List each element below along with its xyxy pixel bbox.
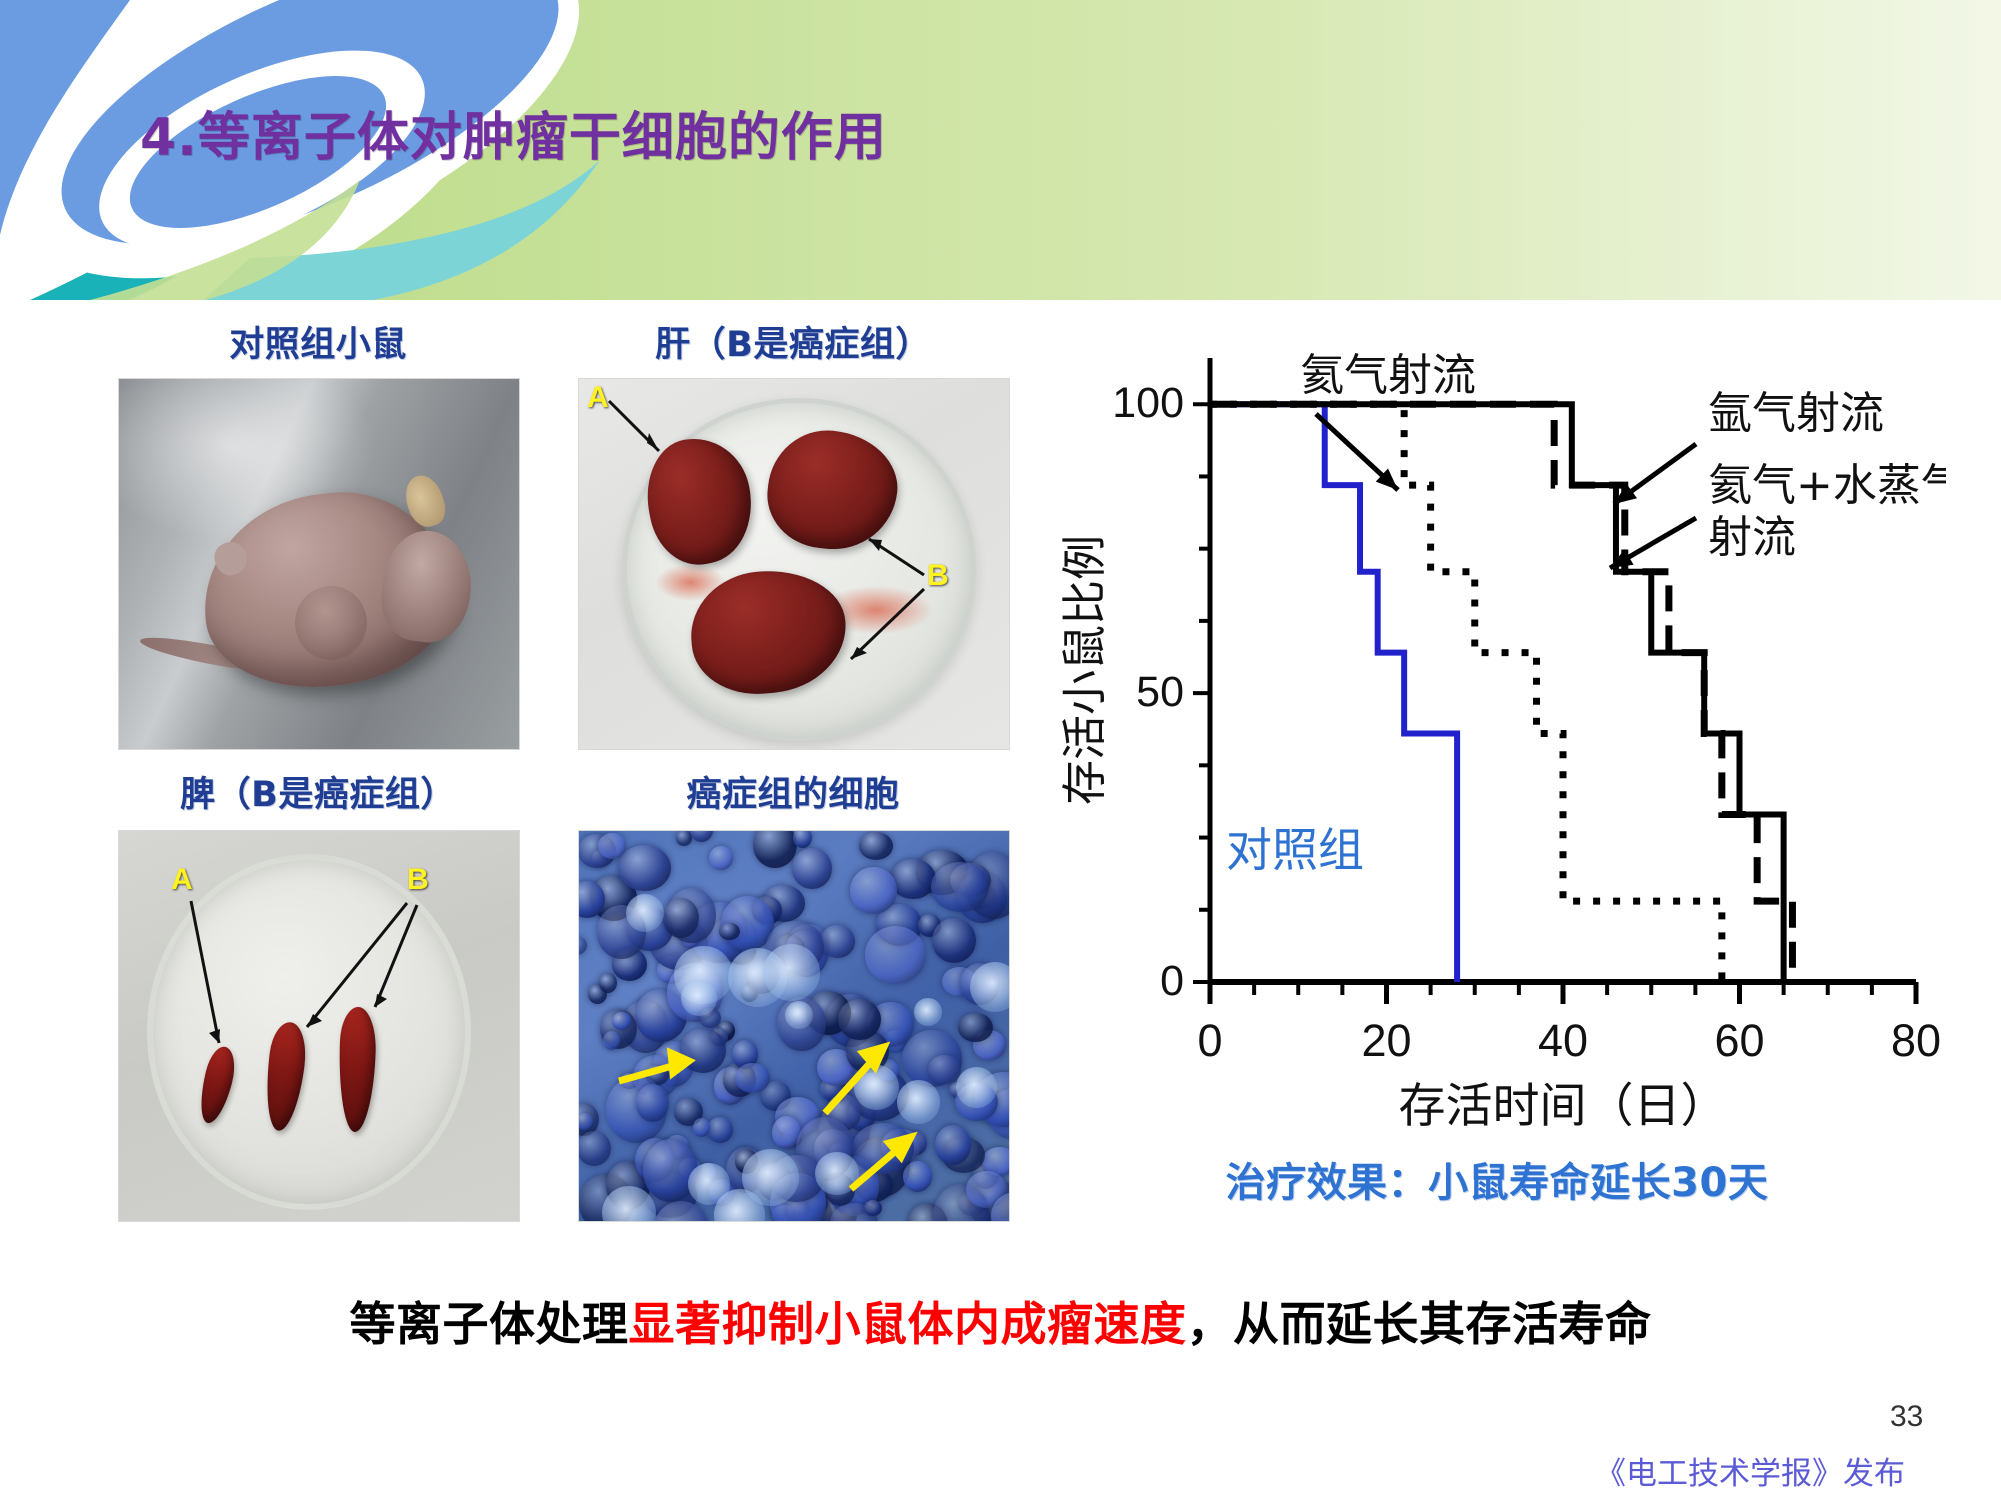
- photo-caption-cancer-cells: 癌症组的细胞: [578, 766, 1008, 824]
- photo-marker-b-liver: B: [927, 559, 949, 593]
- svg-text:存活时间（日）: 存活时间（日）: [1399, 1079, 1728, 1134]
- svg-text:50: 50: [1136, 668, 1184, 716]
- survival-chart: 050100存活小鼠比例020406080存活时间（日）氦气射流氩气射流氦气+水…: [1048, 318, 1946, 1226]
- svg-text:存活小鼠比例: 存活小鼠比例: [1058, 535, 1111, 805]
- svg-text:20: 20: [1361, 1015, 1411, 1066]
- conclusion-part1: 等离子体处理: [350, 1297, 629, 1351]
- photo-image-cancer-cells: [578, 830, 1010, 1222]
- photo-caption-spleen: 脾（B是癌症组）: [118, 766, 518, 824]
- photo-image-spleen: A B: [118, 830, 520, 1222]
- photo-marker-a-spleen: A: [171, 863, 193, 897]
- photo-image-liver: A B: [578, 378, 1010, 750]
- svg-text:60: 60: [1714, 1015, 1764, 1066]
- svg-text:0: 0: [1160, 957, 1184, 1005]
- svg-text:氩气射流: 氩气射流: [1708, 388, 1884, 439]
- svg-text:0: 0: [1197, 1015, 1222, 1066]
- photo-marker-b-spleen: B: [407, 863, 429, 897]
- svg-text:80: 80: [1891, 1015, 1941, 1066]
- photo-cell-liver: 肝（B是癌症组）: [578, 318, 1008, 748]
- photo-image-control-mouse: [118, 378, 520, 750]
- photo-grid: 对照组小鼠 肝（B是癌症组）: [108, 318, 1048, 1226]
- svg-text:射流: 射流: [1708, 512, 1796, 563]
- content-panel: 对照组小鼠 肝（B是癌症组）: [108, 318, 1946, 1226]
- svg-text:100: 100: [1112, 379, 1184, 427]
- page-number: 33: [1890, 1400, 1923, 1434]
- svg-text:氦气+水蒸气: 氦气+水蒸气: [1708, 460, 1946, 511]
- header-banner: 4.等离子体对肿瘤干细胞的作用: [0, 0, 2001, 300]
- photo-caption-control-mouse: 对照组小鼠: [118, 318, 518, 372]
- photo-cell-spleen: 脾（B是癌症组） A B: [118, 766, 518, 1226]
- photo-cell-control-mouse: 对照组小鼠: [118, 318, 518, 748]
- photo-marker-a-liver: A: [587, 381, 609, 415]
- svg-text:对照组: 对照组: [1226, 823, 1364, 877]
- chart-caption: 治疗效果：小鼠寿命延长30天: [1048, 1150, 1946, 1208]
- conclusion-highlight: 显著抑制小鼠体内成瘤速度: [629, 1297, 1187, 1351]
- photo-caption-liver: 肝（B是癌症组）: [578, 318, 1008, 372]
- svg-text:氦气射流: 氦气射流: [1300, 350, 1476, 401]
- survival-chart-svg: 050100存活小鼠比例020406080存活时间（日）氦气射流氩气射流氦气+水…: [1048, 318, 1946, 1158]
- conclusion-text: 等离子体处理显著抑制小鼠体内成瘤速度，从而延长其存活寿命: [0, 1288, 2001, 1354]
- footer-brand: 《电工技术学报》发布: [1595, 1448, 1905, 1493]
- page-title: 4.等离子体对肿瘤干细胞的作用: [140, 95, 887, 170]
- svg-text:40: 40: [1538, 1015, 1588, 1066]
- photo-cell-cancer-cells: 癌症组的细胞: [578, 766, 1008, 1226]
- conclusion-part2: ，从而延长其存活寿命: [1187, 1297, 1652, 1351]
